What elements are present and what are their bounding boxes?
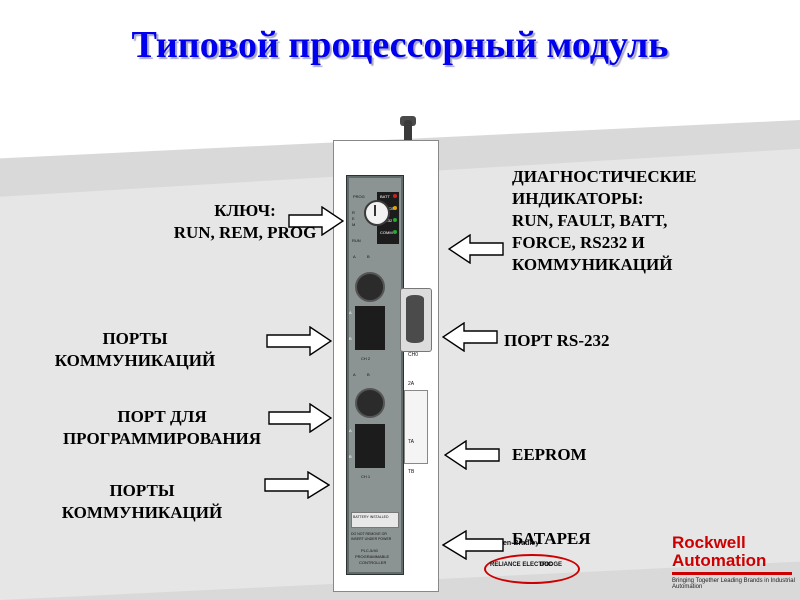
arrow-key <box>288 206 344 236</box>
arrow-comm-ports-bottom <box>264 471 330 499</box>
silk-b-term-ch1: B <box>349 454 352 459</box>
silk-run: RUN <box>352 238 361 243</box>
label-comm-ports-bottom: ПОРТЫ КОММУНИКАЦИЙ <box>20 480 264 524</box>
rockwell-bar <box>672 572 792 575</box>
label-eeprom: EEPROM <box>512 444 732 466</box>
silk-model-line3: CONTROLLER <box>359 560 386 565</box>
silk-batt: BATT <box>380 194 390 199</box>
terminal-block-ch2 <box>355 306 385 350</box>
silk-b-ch1: B <box>367 372 370 377</box>
silk-ch1: CH 1 <box>361 474 370 479</box>
silk-warning: DO NOT REMOVE OR INSERT UNDER POWER <box>351 532 391 542</box>
silk-comm: COMM <box>380 230 393 235</box>
label-rs232-port: ПОРТ RS-232 <box>504 330 724 352</box>
arrow-rs232 <box>442 322 498 352</box>
label-diagnostics: ДИАГНОСТИЧЕСКИЕ ИНДИКАТОРЫ: RUN, FAULT, … <box>512 166 782 276</box>
arrow-diagnostics <box>448 234 504 264</box>
processor-module: PROG R E M RUN BATT FORCE RS232 COMM A B… <box>346 175 404 575</box>
silk-e: E <box>352 216 355 221</box>
comm-connector-ch2 <box>355 272 385 302</box>
silk-r: R <box>352 210 355 215</box>
silk-model-line2: PROGRAMMABLE <box>355 554 389 559</box>
key-switch[interactable] <box>364 200 390 226</box>
label-comm-ports-top: ПОРТЫ КОММУНИКАЦИЙ <box>20 328 250 372</box>
silk-b-ch2: B <box>367 254 370 259</box>
rockwell-tagline: Bringing Together Leading Brands in Indu… <box>672 578 800 590</box>
silk-ch2: CH 2 <box>361 356 370 361</box>
led-comm <box>393 230 397 234</box>
comm-connector-ch1 <box>355 388 385 418</box>
label-prog-port: ПОРТ ДЛЯ ПРОГРАММИРОВАНИЯ <box>12 406 312 450</box>
silk-2a: 2A <box>408 382 414 387</box>
silk-a-term-ch1: A <box>349 428 352 433</box>
arrow-comm-ports-top <box>266 326 332 356</box>
silk-model: PLC-5/40 <box>361 548 378 553</box>
silk-a-term-ch2: A <box>349 310 352 315</box>
led-rs232 <box>393 218 397 222</box>
silk-tb: TB <box>408 470 414 475</box>
slide-root: Типовой процессорный модуль PROG R E M R… <box>0 0 800 600</box>
dodge-text: DODGE <box>540 562 562 568</box>
arrow-prog-port <box>268 403 332 433</box>
silk-ta: TA <box>408 440 414 445</box>
silk-prog: PROG <box>353 194 365 199</box>
silk-ch0: CH0 <box>408 353 418 358</box>
silk-a-ch1: A <box>353 372 356 377</box>
led-batt <box>393 194 397 198</box>
eeprom-slot <box>404 390 428 464</box>
rs232-connector-inner <box>406 295 424 343</box>
terminal-block-ch1 <box>355 424 385 468</box>
silk-a-ch2: A <box>353 254 356 259</box>
silk-m: M <box>352 222 355 227</box>
page-title: Типовой процессорный модуль <box>0 22 800 68</box>
silk-battery-installed: BATTERY INSTALLED <box>353 515 389 520</box>
arrow-battery <box>442 530 504 560</box>
silk-b-term-ch2: B <box>349 336 352 341</box>
rs232-connector <box>400 288 432 352</box>
arrow-eeprom <box>444 440 500 470</box>
label-battery: БАТАРЕЯ <box>512 528 732 550</box>
rockwell-line2: Automation <box>672 552 800 570</box>
